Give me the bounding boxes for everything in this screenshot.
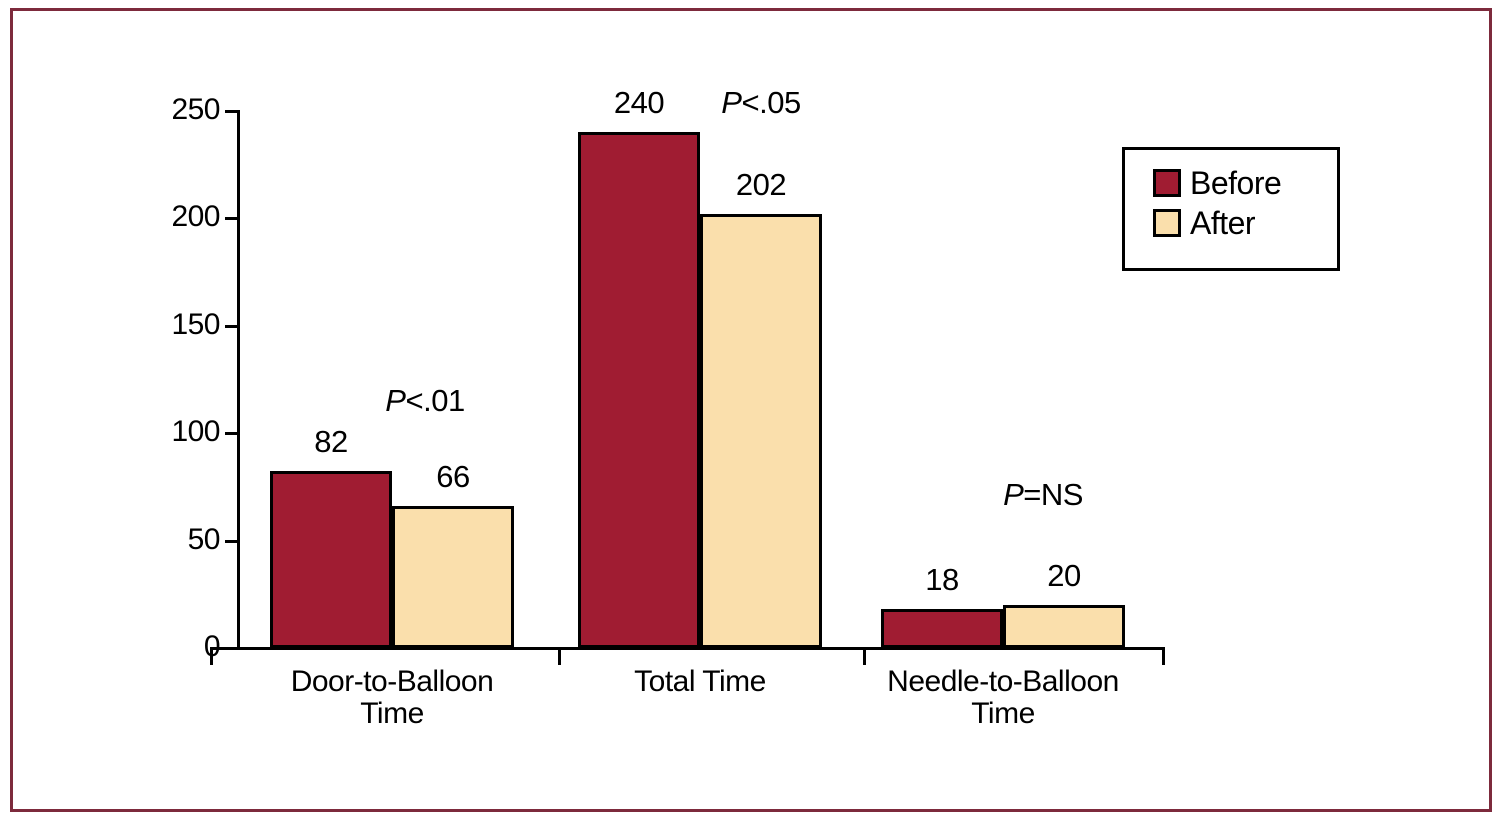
y-axis-line [237,110,240,650]
p-annotation-door-to-balloon: P<.01 [330,383,520,419]
y-tick-label-200: 200 [171,200,220,234]
y-tick-label-250: 250 [171,93,220,127]
y-tick-label-100: 100 [171,415,220,449]
bar-after-door-to-balloon[interactable] [392,506,514,648]
p-symbol-needle-to-balloon: P [1003,477,1023,512]
p-value-needle-to-balloon: =NS [1023,477,1083,512]
bar-value-before-door-to-balloon: 82 [270,424,392,460]
legend-swatch-after-icon [1153,209,1181,237]
y-tick-mark-250 [225,110,238,113]
legend-item-after[interactable]: After [1153,207,1255,239]
p-symbol-total-time: P [721,85,741,120]
p-symbol-door-to-balloon: P [385,383,405,418]
p-annotation-total-time: P<.05 [666,85,856,121]
x-tick-mark-sep-1 [558,650,561,665]
p-value-total-time: <.05 [741,85,800,120]
bar-before-door-to-balloon[interactable] [270,471,392,648]
x-tick-mark-sep-2 [863,650,866,665]
group-label-line-2: Time [222,698,562,730]
p-annotation-needle-to-balloon: P=NS [948,477,1138,513]
bar-after-total-time[interactable] [700,214,822,648]
y-tick-mark-0 [225,647,238,650]
group-label-line-1: Needle-to-Balloon [833,666,1173,698]
group-label-door-to-balloon: Door-to-Balloon Time [222,666,562,731]
legend-label-after: After [1190,207,1255,239]
group-label-line-1: Door-to-Balloon [222,666,562,698]
y-tick-label-50: 50 [188,523,220,557]
group-label-needle-to-balloon: Needle-to-Balloon Time [833,666,1173,731]
bar-value-after-total-time: 202 [700,167,822,203]
y-tick-mark-50 [225,540,238,543]
chart-legend: Before After [1122,147,1340,271]
bar-after-needle-to-balloon[interactable] [1003,605,1125,648]
bar-value-after-needle-to-balloon: 20 [1003,558,1125,594]
legend-item-before[interactable]: Before [1153,167,1281,199]
bar-before-total-time[interactable] [578,132,700,648]
y-tick-mark-100 [225,432,238,435]
bar-before-needle-to-balloon[interactable] [881,609,1003,648]
group-label-line-1: Total Time [560,666,840,698]
legend-swatch-before-icon [1153,169,1181,197]
x-tick-mark-start [210,650,213,665]
y-tick-mark-150 [225,325,238,328]
bar-value-before-needle-to-balloon: 18 [881,562,1003,598]
x-tick-mark-end [1162,650,1165,665]
y-tick-mark-200 [225,217,238,220]
legend-label-before: Before [1190,167,1281,199]
bar-value-after-door-to-balloon: 66 [392,459,514,495]
y-tick-label-150: 150 [171,308,220,342]
p-value-door-to-balloon: <.01 [405,383,464,418]
chart-canvas: 250 200 150 100 50 0 82 66 P<.01 Door-to… [0,0,1508,829]
group-label-total-time: Total Time [560,666,840,698]
group-label-line-2: Time [833,698,1173,730]
